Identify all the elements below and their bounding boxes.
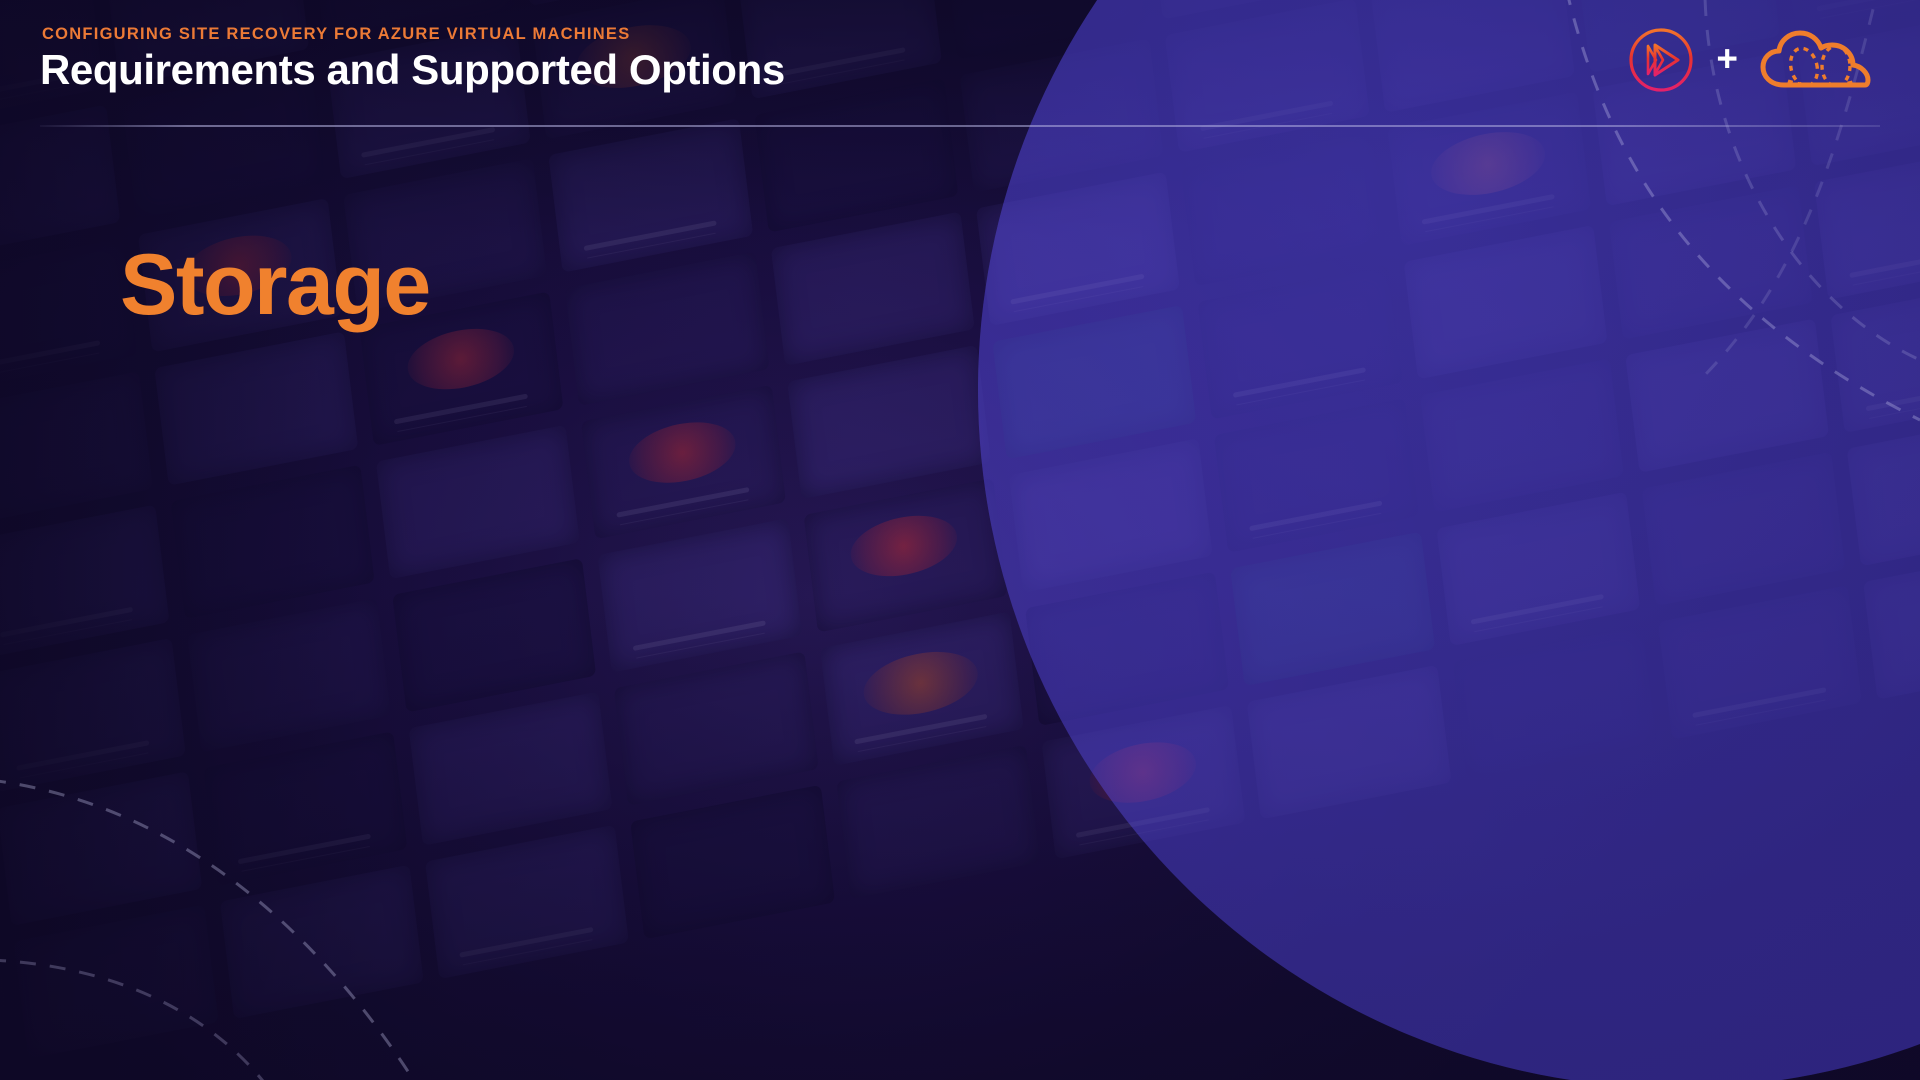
pluralsight-play-circle-icon [1626, 25, 1696, 95]
course-eyebrow-label: CONFIGURING SITE RECOVERY FOR AZURE VIRT… [42, 25, 630, 44]
section-heading: Storage [120, 242, 430, 328]
header-divider [40, 125, 1880, 127]
slide-header: CONFIGURING SITE RECOVERY FOR AZURE VIRT… [0, 0, 1920, 128]
plus-separator: + [1716, 40, 1738, 77]
brand-lockup: + [1626, 22, 1876, 98]
slide-canvas: CONFIGURING SITE RECOVERY FOR AZURE VIRT… [0, 0, 1920, 1080]
page-title: Requirements and Supported Options [40, 46, 785, 94]
a-cloud-guru-cloud-icon [1758, 29, 1876, 91]
